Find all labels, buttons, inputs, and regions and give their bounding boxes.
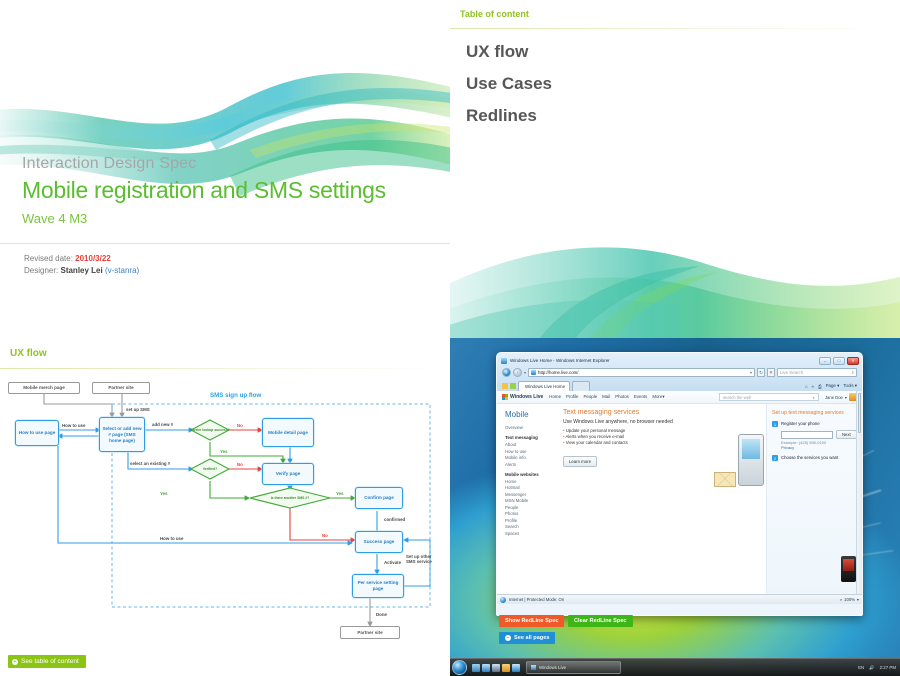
windows-orb-icon[interactable]: [452, 660, 467, 675]
ie-search-placeholder: Live Search: [780, 370, 803, 375]
close-button[interactable]: ✕: [847, 357, 859, 365]
ie-status-bar: Internet | Protected Mode: On ⌕ 100% ▾: [497, 594, 862, 604]
ie-title-bar[interactable]: Windows Live Home - Windows Internet Exp…: [500, 355, 859, 366]
address-url: http://home.live.com/: [538, 370, 579, 375]
designer-alias: (v-stanra): [105, 266, 139, 275]
see-all-pages-label: See all pages: [514, 635, 549, 641]
title-divider: [0, 243, 450, 244]
sidebar-item-alerts[interactable]: Alerts: [505, 462, 555, 467]
edge-select-existing-number: select an existing #: [130, 461, 170, 466]
choose-services-step: 2 Choose the services you want: [772, 455, 858, 461]
nav-photos[interactable]: Photos: [615, 394, 629, 400]
see-all-pages-button[interactable]: − See all pages: [499, 632, 555, 644]
node-partner-site-bottom[interactable]: Partner site: [340, 626, 400, 639]
internet-explorer-window[interactable]: Windows Live Home - Windows Internet Exp…: [496, 352, 863, 616]
edge-no-verified: No: [237, 462, 243, 467]
stop-icon[interactable]: ✕: [767, 368, 775, 377]
toc-item-use-cases[interactable]: Use Cases: [466, 74, 552, 94]
sidebar-item-messenger[interactable]: Messenger: [505, 492, 555, 497]
scrollbar-thumb[interactable]: [858, 393, 861, 433]
edge-set-up-sms: set up SMS: [126, 407, 150, 412]
star-icon[interactable]: [502, 383, 508, 389]
ie-icon[interactable]: [482, 664, 490, 672]
decision-verified[interactable]: Verified?: [186, 462, 234, 476]
title-block: Interaction Design Spec Mobile registrat…: [22, 155, 442, 226]
tools-menu-label: Tools: [843, 383, 853, 388]
ie-tab-bar: Windows Live Home ⌂ ≈ ⎙ Page ▾ Tools ▾: [500, 379, 859, 391]
new-tab-button[interactable]: [572, 381, 590, 391]
node-mobile-detail-page[interactable]: Mobile detail page: [262, 418, 314, 447]
designer-label: Designer:: [24, 266, 58, 275]
choose-services-label: Choose the services you want: [781, 455, 838, 460]
node-success-page[interactable]: Success page: [355, 531, 403, 553]
sidebar-item-home[interactable]: Home: [505, 479, 555, 484]
toc-item-redlines[interactable]: Redlines: [466, 106, 552, 126]
sidebar-item-spaces[interactable]: Spaces: [505, 531, 555, 536]
see-table-of-content-button[interactable]: + See table of content: [8, 655, 86, 668]
live-header: Windows Live Home Profile People Mail Ph…: [497, 391, 862, 404]
add-favorite-icon[interactable]: [510, 383, 516, 389]
page-viewport: Windows Live Home Profile People Mail Ph…: [497, 391, 862, 604]
ie-icon: [501, 358, 507, 364]
page-title: Mobile registration and SMS settings: [22, 177, 442, 204]
taskbar-task-windows-live[interactable]: Windows Live: [526, 661, 621, 674]
sidebar-group-text-messaging: Text messaging: [505, 435, 555, 440]
ie-chrome: Windows Live Home - Windows Internet Exp…: [497, 353, 862, 391]
decision-another-sms[interactable]: Is there another SMS #?: [258, 490, 322, 506]
zoom-level: 100%: [844, 597, 855, 602]
page-favicon: [531, 370, 536, 375]
nav-more[interactable]: More▾: [652, 394, 664, 400]
title-slide: Interaction Design Spec Mobile registrat…: [0, 0, 450, 338]
node-partner-site-top[interactable]: Partner site: [92, 382, 150, 394]
toc-rule: [450, 28, 896, 29]
chevron-down-icon[interactable]: ▾: [750, 370, 752, 375]
slide-subtitle: Wave 4 M3: [22, 211, 442, 226]
edge-confirmed: confirmed: [384, 517, 405, 522]
revised-date: 2010/3/22: [75, 254, 111, 263]
chevron-down-icon: ▾: [845, 395, 847, 400]
right-heading: Set up text messaging services: [772, 410, 858, 416]
edge-add-new-number: add new #: [152, 422, 173, 427]
privacy-link[interactable]: Privacy: [781, 445, 858, 450]
brand-label: Windows Live: [510, 394, 543, 400]
edge-no-carrier: No: [237, 423, 243, 428]
quick-launch-bar: [472, 664, 520, 672]
taskbar-clock[interactable]: 2:27 PM: [880, 665, 896, 670]
ad-phone-illustration: [841, 556, 856, 582]
windows-flag-icon: [502, 394, 508, 400]
ie-icon: [531, 665, 536, 670]
sidebar-item-how-to-use[interactable]: How to use: [505, 449, 555, 454]
register-label: Register your phone: [781, 421, 820, 426]
tools-menu[interactable]: Tools ▾: [843, 383, 857, 389]
magnifier-icon: ⌕: [852, 370, 854, 375]
minimize-button[interactable]: –: [819, 357, 831, 365]
speaker-icon[interactable]: 🔊: [869, 665, 874, 671]
ie-navigation-bar: ‹ › ▾ http://home.live.com/ ▾ ↻ ✕ Live S…: [500, 366, 859, 379]
phone-illustration: [738, 434, 764, 486]
sidebar-item-profile[interactable]: Profile: [505, 518, 555, 523]
page-main: Text messaging services Use Windows Live…: [559, 404, 766, 602]
step-number: 2: [772, 455, 778, 461]
phone-hint: Example: (425) 555-0100 Privacy: [781, 440, 858, 450]
slide-metadata: Revised date: 2010/3/22 Designer: Stanle…: [24, 253, 139, 277]
sidebar-item-photos[interactable]: Photos: [505, 511, 555, 516]
flow-diagram: Mobile merch page Partner site How to us…: [0, 368, 450, 648]
sidebar-item-mobile-info[interactable]: Mobile info: [505, 455, 555, 460]
nav-events[interactable]: Events: [634, 394, 647, 400]
ux-flow-heading: UX flow: [10, 348, 47, 359]
edge-how-to-use-top: How to use: [62, 423, 85, 428]
edge-done: Done: [376, 612, 387, 617]
next-button[interactable]: Next: [836, 430, 857, 439]
show-desktop-icon[interactable]: [472, 664, 480, 672]
print-icon[interactable]: ⎙: [818, 384, 822, 389]
internet-zone-icon: [500, 597, 506, 603]
slide-kicker: Interaction Design Spec: [22, 155, 442, 173]
toc-item-ux-flow[interactable]: UX flow: [466, 42, 552, 62]
feeds-icon[interactable]: ≈: [812, 384, 814, 389]
edge-set-up-other-sms: Set up other SMS service: [406, 554, 434, 564]
page-scrollbar[interactable]: [856, 391, 862, 594]
nav-home[interactable]: Home: [549, 394, 561, 400]
taskbar-task-label: Windows Live: [539, 665, 566, 670]
refresh-icon[interactable]: ↻: [757, 368, 765, 377]
node-confirm-page[interactable]: Confirm page: [355, 487, 403, 509]
ux-flow-slide: UX flow: [0, 338, 450, 676]
edge-no-another: No: [322, 533, 328, 538]
nav-profile[interactable]: Profile: [566, 394, 578, 400]
site-search-placeholder: search the web: [723, 395, 751, 400]
ie-search-input[interactable]: Live Search ⌕: [777, 368, 857, 377]
node-select-or-add-page[interactable]: Select or add new # page (SMS home page): [99, 417, 145, 452]
page-menu-label: Page: [826, 383, 836, 388]
main-heading: Text messaging services: [563, 409, 762, 416]
main-feature-list: Update your personal message Alerts when…: [563, 428, 762, 446]
tab-label: Windows Live Home: [525, 384, 565, 389]
ie-window-title: Windows Live Home - Windows Internet Exp…: [510, 358, 610, 363]
sidebar-item-search[interactable]: Search: [505, 524, 555, 529]
learn-more-button[interactable]: Learn more: [563, 456, 597, 467]
nav-mail[interactable]: Mail: [602, 394, 610, 400]
toc-heading: Table of content: [460, 9, 529, 19]
phone-number-input[interactable]: [781, 431, 833, 439]
edge-yes-verified: Yes: [160, 491, 168, 496]
toc-list: UX flow Use Cases Redlines: [466, 42, 552, 138]
language-indicator[interactable]: EN: [858, 665, 864, 670]
nav-more-label: More: [652, 394, 662, 399]
magnifier-icon: ⌕: [813, 395, 815, 400]
nav-people[interactable]: People: [583, 394, 597, 400]
sidebar-item-people[interactable]: People: [505, 505, 555, 510]
phone-entry-row: Next: [781, 430, 858, 439]
edge-yes-another: Yes: [336, 491, 344, 496]
designer-name: Stanley Lei: [60, 266, 102, 275]
clear-redline-spec-button[interactable]: Clear RedLine Spec: [568, 615, 633, 627]
node-verify-page[interactable]: Verify page: [262, 463, 314, 485]
feature-item: View your calendar and contacts: [563, 440, 762, 446]
folder-icon[interactable]: [502, 664, 510, 672]
status-zone-label: Internet | Protected Mode: On: [509, 597, 564, 602]
back-arrow-icon[interactable]: ‹: [502, 368, 511, 377]
sidebar-item-overview[interactable]: Overview: [505, 425, 555, 430]
sidebar-group-mobile-websites: Mobile websites: [505, 472, 555, 477]
main-lead: Use Windows Live anywhere, no browser ne…: [563, 419, 762, 425]
envelope-illustration: [714, 472, 736, 487]
plus-circle-icon: +: [12, 659, 18, 665]
windows-desktop-slide: Windows Live Home - Windows Internet Exp…: [450, 338, 900, 676]
register-step: 1 Register your phone: [772, 421, 858, 427]
slide-deck-overview: Interaction Design Spec Mobile registrat…: [0, 0, 900, 676]
forward-arrow-icon[interactable]: ›: [513, 368, 522, 377]
favorites-group: [502, 383, 516, 391]
maximize-button[interactable]: □: [833, 357, 845, 365]
desktop-wallpaper: Windows Live Home - Windows Internet Exp…: [450, 338, 900, 676]
step-number: 1: [772, 421, 778, 427]
edge-activate: Activate: [384, 560, 401, 565]
magnifier-icon: ⌕: [840, 597, 842, 602]
history-chevron-icon[interactable]: ▾: [524, 370, 526, 375]
edge-yes-carrier: Yes: [220, 449, 228, 454]
page-sidebar: Mobile Overview Text messaging About How…: [497, 404, 559, 602]
sidebar-title: Mobile: [505, 410, 555, 419]
site-search-input[interactable]: search the web ⌕: [719, 393, 819, 401]
flow-title: SMS sign up flow: [210, 392, 261, 399]
edge-how-to-use-return: How to use: [160, 536, 183, 541]
media-player-icon[interactable]: [492, 664, 500, 672]
address-bar[interactable]: http://home.live.com/ ▾: [528, 368, 755, 377]
system-tray: EN 🔊 2:27 PM: [858, 665, 900, 671]
home-icon[interactable]: ⌂: [805, 384, 808, 389]
show-redline-spec-button[interactable]: Show RedLine Spec: [499, 615, 564, 627]
ie-command-bar: ⌂ ≈ ⎙ Page ▾ Tools ▾: [805, 383, 857, 391]
sidebar-item-msn-mobile[interactable]: MSN Mobile: [505, 498, 555, 503]
page-menu[interactable]: Page ▾: [826, 383, 840, 389]
user-menu[interactable]: Jane Doe ▾: [825, 393, 857, 401]
browser-tab-active[interactable]: Windows Live Home: [518, 381, 570, 391]
windows-taskbar: Windows Live EN 🔊 2:27 PM: [450, 658, 900, 676]
table-of-content-slide: Table of content UX flow Use Cases Redli…: [450, 0, 900, 338]
live-icon[interactable]: [512, 664, 520, 672]
decision-carrier-lookup[interactable]: Carrier lookup success?: [181, 422, 239, 438]
see-table-of-content-label: See table of content: [21, 658, 79, 665]
user-name: Jane Doe: [825, 395, 843, 400]
toc-swoosh-graphic: [450, 208, 900, 338]
window-controls: – □ ✕: [819, 357, 859, 365]
sidebar-item-hotmail[interactable]: Hotmail: [505, 485, 555, 490]
node-mobile-merch-page[interactable]: Mobile merch page: [8, 382, 80, 394]
sidebar-item-about[interactable]: About: [505, 442, 555, 447]
node-how-to-use-page[interactable]: How to use page: [15, 420, 59, 446]
node-per-service-setting-page[interactable]: Per service setting page: [352, 574, 404, 598]
chevron-down-icon[interactable]: ▾: [857, 597, 859, 602]
windows-live-logo[interactable]: Windows Live: [502, 394, 543, 400]
page-body: Mobile Overview Text messaging About How…: [497, 404, 862, 602]
live-nav: Home Profile People Mail Photos Events M…: [549, 394, 664, 400]
revised-label: Revised date:: [24, 254, 73, 263]
minus-circle-icon: −: [505, 635, 511, 641]
zoom-control[interactable]: ⌕ 100% ▾: [840, 597, 859, 602]
